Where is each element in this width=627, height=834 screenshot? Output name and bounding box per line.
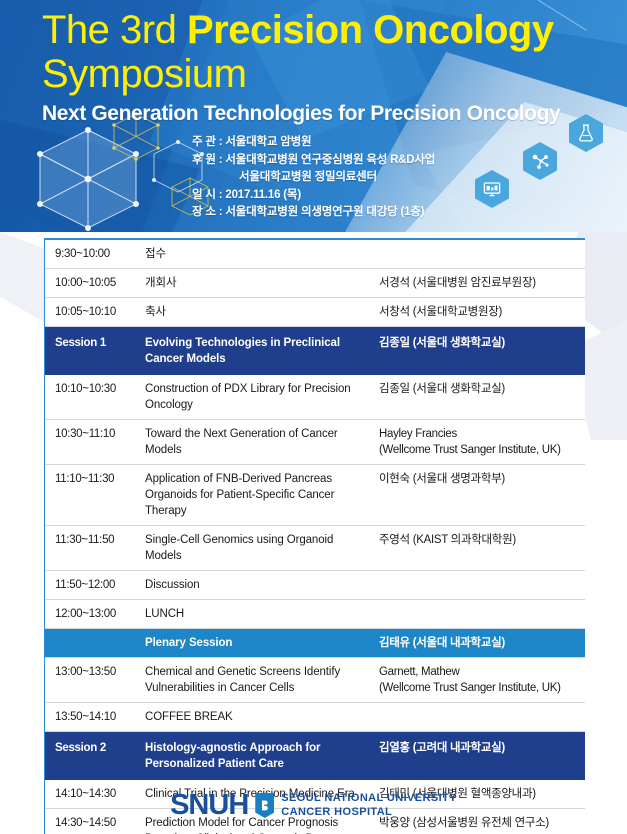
schedule-row-title: Discussion [139,571,375,599]
schedule-row: Session 2Histology-agnostic Approach for… [45,732,585,780]
schedule-row-time [45,629,139,641]
schedule-row-speaker: 서경석 (서울대병원 암진료부원장) [375,269,585,297]
schedule-row-title: 접수 [139,240,375,268]
schedule-row: 13:50~14:10COFFEE BREAK [45,703,585,732]
schedule-row: 10:00~10:05개회사서경석 (서울대병원 암진료부원장) [45,269,585,298]
schedule-row-time: Session 1 [45,327,139,359]
schedule-row-title: COFFEE BREAK [139,703,375,731]
schedule-row-title: Chemical and Genetic Screens Identify Vu… [139,658,375,702]
schedule-row: 10:10~10:30Construction of PDX Library f… [45,375,585,420]
schedule-row-speaker: 김종일 (서울대 생화학교실) [375,375,585,403]
schedule-row: 12:00~13:00LUNCH [45,600,585,629]
shield-icon [255,793,274,818]
info-host-label: 주 관 : [192,136,222,148]
schedule-row-speaker: 김종일 (서울대 생화학교실) [375,327,585,359]
logo-full-name: SEOUL NATIONAL UNIVERSITY CANCER HOSPITA… [281,792,457,819]
schedule-row-time: 12:00~13:00 [45,600,139,628]
schedule-row-time: 10:10~10:30 [45,375,139,403]
schedule-row-speaker [375,240,585,252]
schedule-row: 11:50~12:00Discussion [45,571,585,600]
schedule-row: 9:30~10:00접수 [45,240,585,269]
poster-title-line2: Symposium [42,52,602,96]
schedule-row-time: 11:10~11:30 [45,465,139,493]
snuh-logo: SNUH SEOUL NATIONAL UNIVERSITY CANCER HO… [170,791,457,820]
logo-abbreviation: SNUH [170,791,248,820]
logo-line-2: CANCER HOSPITAL [281,806,392,818]
schedule-row-time: 10:05~10:10 [45,298,139,326]
schedule-row: Session 1Evolving Technologies in Precli… [45,327,585,375]
info-place-label: 장 소 : [192,206,222,218]
info-date-value: 2017.11.16 (목) [225,189,301,201]
schedule-row-time: 10:00~10:05 [45,269,139,297]
schedule-row: 11:10~11:30Application of FNB-Derived Pa… [45,465,585,526]
info-sponsor: 후 원 : 서울대학교병원 연구중심병원 육성 R&D사업 [192,152,435,170]
schedule-row-title: 개회사 [139,269,375,297]
schedule-row: Plenary Session김태유 (서울대 내과학교실) [45,629,585,658]
schedule-row-time: 11:30~11:50 [45,526,139,554]
schedule-row-time: 11:50~12:00 [45,571,139,599]
schedule-row-title: Single-Cell Genomics using Organoid Mode… [139,526,375,570]
schedule-row-title: 축사 [139,298,375,326]
info-place-value: 서울대학교병원 의생명연구원 대강당 (1층) [225,206,424,218]
poster-title-block: The 3rd Precision Oncology Symposium Nex… [42,8,602,126]
schedule-row-speaker: 주영석 (KAIST 의과학대학원) [375,526,585,554]
schedule-row-title: Histology-agnostic Approach for Personal… [139,732,375,780]
info-sponsor-2: 서울대학교병원 정밀의료센터 [192,169,435,187]
schedule-row-speaker: 서창석 (서울대학교병원장) [375,298,585,326]
schedule-table: 9:30~10:00접수10:00~10:05개회사서경석 (서울대병원 암진료… [44,238,585,834]
schedule-row-title: LUNCH [139,600,375,628]
schedule-row: 11:30~11:50Single-Cell Genomics using Or… [45,526,585,571]
info-date: 일 시 : 2017.11.16 (목) [192,187,435,205]
info-host-value: 서울대학교 암병원 [225,136,311,148]
schedule-row-time: 9:30~10:00 [45,240,139,268]
schedule-row-title: Evolving Technologies in Preclinical Can… [139,327,375,375]
schedule-row-speaker: 김태유 (서울대 내과학교실) [375,629,585,657]
title-the-3rd: The 3rd [42,8,187,52]
bg-shape [0,232,44,322]
poster-subtitle: Next Generation Technologies for Precisi… [42,102,602,126]
info-sponsor-value: 서울대학교병원 연구중심병원 육성 R&D사업 [225,154,435,166]
title-precision-oncology: Precision Oncology [187,8,554,52]
symposium-poster: The 3rd Precision Oncology Symposium Nex… [0,0,627,834]
schedule-row-time: 13:00~13:50 [45,658,139,686]
info-sponsor-label: 후 원 : [192,154,222,166]
logo-line-1: SEOUL NATIONAL UNIVERSITY [281,792,457,804]
poster-footer: SNUH SEOUL NATIONAL UNIVERSITY CANCER HO… [0,791,627,820]
schedule-row-speaker: 이현숙 (서울대 생명과학부) [375,465,585,493]
schedule-row-title: Toward the Next Generation of Cancer Mod… [139,420,375,464]
schedule-row-speaker [375,571,585,583]
isometric-cube-art [18,112,218,232]
poster-header: The 3rd Precision Oncology Symposium Nex… [0,0,627,232]
schedule-row-time: 10:30~11:10 [45,420,139,448]
schedule-row-speaker: Garnett, Mathew(Wellcome Trust Sanger In… [375,658,585,702]
info-date-label: 일 시 : [192,189,222,201]
schedule-row-speaker: Hayley Francies(Wellcome Trust Sanger In… [375,420,585,464]
schedule-row: 10:30~11:10Toward the Next Generation of… [45,420,585,465]
schedule-row: 10:05~10:10축사서창석 (서울대학교병원장) [45,298,585,327]
schedule-row-speaker: 김열홍 (고려대 내과학교실) [375,732,585,764]
schedule-row-time: 13:50~14:10 [45,703,139,731]
schedule-row-title: Application of FNB-Derived Pancreas Orga… [139,465,375,525]
schedule-row: 13:00~13:50Chemical and Genetic Screens … [45,658,585,703]
info-host: 주 관 : 서울대학교 암병원 [192,134,435,152]
schedule-row-speaker [375,703,585,715]
schedule-row-title: Plenary Session [139,629,375,657]
schedule-row-speaker [375,600,585,612]
schedule-table-body: 9:30~10:00접수10:00~10:05개회사서경석 (서울대병원 암진료… [44,240,585,834]
poster-title-line1: The 3rd Precision Oncology [42,8,602,52]
info-place: 장 소 : 서울대학교병원 의생명연구원 대강당 (1층) [192,204,435,222]
schedule-row-title: Construction of PDX Library for Precisio… [139,375,375,419]
schedule-row-time: Session 2 [45,732,139,764]
event-info-block: 주 관 : 서울대학교 암병원 후 원 : 서울대학교병원 연구중심병원 육성 … [192,134,435,222]
